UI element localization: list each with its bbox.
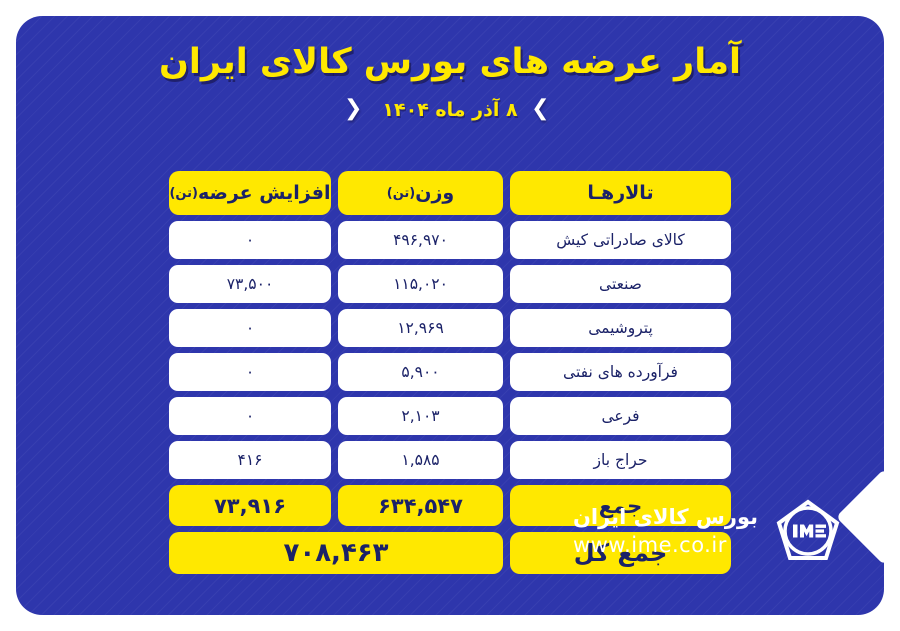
column-header-weight-unit: (تن) bbox=[387, 186, 415, 201]
footer-text: بورس کالای ایران www.ime.co.ir bbox=[573, 503, 758, 559]
cell-hall: صنعتی bbox=[510, 265, 731, 303]
edge-notch-decoration bbox=[836, 469, 884, 565]
grand-total-value: ۷۰۸,۴۶۳ bbox=[169, 532, 503, 574]
column-header-increase-label: افزایش عرضه bbox=[198, 182, 331, 204]
cell-hall: حراج باز bbox=[510, 441, 731, 479]
page-title: آمار عرضه های بورس کالای ایران bbox=[16, 40, 884, 85]
cell-weight: ۴۹۶,۹۷۰ bbox=[338, 221, 503, 259]
cell-hall: پتروشیمی bbox=[510, 309, 731, 347]
subtotal-increase: ۷۳,۹۱۶ bbox=[169, 485, 331, 526]
footer-brand-name: بورس کالای ایران bbox=[573, 505, 758, 529]
table-header-row: تالارهـا وزن(تن) افزایش عرضه(تن) bbox=[169, 171, 731, 215]
date-row: ❯ ۸ آذر ماه ۱۴۰۴ ❮ bbox=[16, 99, 884, 121]
cell-weight: ۱۲,۹۶۹ bbox=[338, 309, 503, 347]
column-header-weight: وزن(تن) bbox=[338, 171, 503, 215]
column-header-increase-unit: (تن) bbox=[169, 186, 197, 201]
column-header-weight-label: وزن bbox=[415, 182, 454, 204]
date-label: ۸ آذر ماه ۱۴۰۴ bbox=[382, 99, 517, 121]
cell-increase: ۴۱۶ bbox=[169, 441, 331, 479]
cell-increase: ۰ bbox=[169, 353, 331, 391]
ime-logo-icon bbox=[776, 499, 840, 563]
table-row: فرعی ۲,۱۰۳ ۰ bbox=[169, 397, 731, 435]
cell-hall: کالای صادراتی کیش bbox=[510, 221, 731, 259]
cell-weight: ۱,۵۸۵ bbox=[338, 441, 503, 479]
cell-weight: ۲,۱۰۳ bbox=[338, 397, 503, 435]
cell-increase: ۰ bbox=[169, 397, 331, 435]
chevron-right-icon: ❯ bbox=[538, 99, 550, 121]
header: آمار عرضه های بورس کالای ایران ❯ ۸ آذر م… bbox=[16, 40, 884, 121]
column-header-hall-label: تالارهـا bbox=[587, 182, 653, 204]
footer: بورس کالای ایران www.ime.co.ir bbox=[573, 499, 840, 563]
cell-weight: ۵,۹۰۰ bbox=[338, 353, 503, 391]
table-row: صنعتی ۱۱۵,۰۲۰ ۷۳,۵۰۰ bbox=[169, 265, 731, 303]
table-row: حراج باز ۱,۵۸۵ ۴۱۶ bbox=[169, 441, 731, 479]
blue-panel: آمار عرضه های بورس کالای ایران ❯ ۸ آذر م… bbox=[16, 16, 884, 615]
table-row: کالای صادراتی کیش ۴۹۶,۹۷۰ ۰ bbox=[169, 221, 731, 259]
column-header-hall: تالارهـا bbox=[510, 171, 731, 215]
table-row: پتروشیمی ۱۲,۹۶۹ ۰ bbox=[169, 309, 731, 347]
cell-hall: فرآورده های نفتی bbox=[510, 353, 731, 391]
cell-increase: ۰ bbox=[169, 309, 331, 347]
infographic-page: آمار عرضه های بورس کالای ایران ❯ ۸ آذر م… bbox=[0, 0, 900, 631]
cell-hall: فرعی bbox=[510, 397, 731, 435]
table-row: فرآورده های نفتی ۵,۹۰۰ ۰ bbox=[169, 353, 731, 391]
chevron-left-icon: ❮ bbox=[350, 99, 362, 121]
footer-url[interactable]: www.ime.co.ir bbox=[573, 533, 727, 557]
subtotal-weight: ۶۳۴,۵۴۷ bbox=[338, 485, 503, 526]
cell-increase: ۷۳,۵۰۰ bbox=[169, 265, 331, 303]
column-header-increase: افزایش عرضه(تن) bbox=[169, 171, 331, 215]
cell-increase: ۰ bbox=[169, 221, 331, 259]
cell-weight: ۱۱۵,۰۲۰ bbox=[338, 265, 503, 303]
